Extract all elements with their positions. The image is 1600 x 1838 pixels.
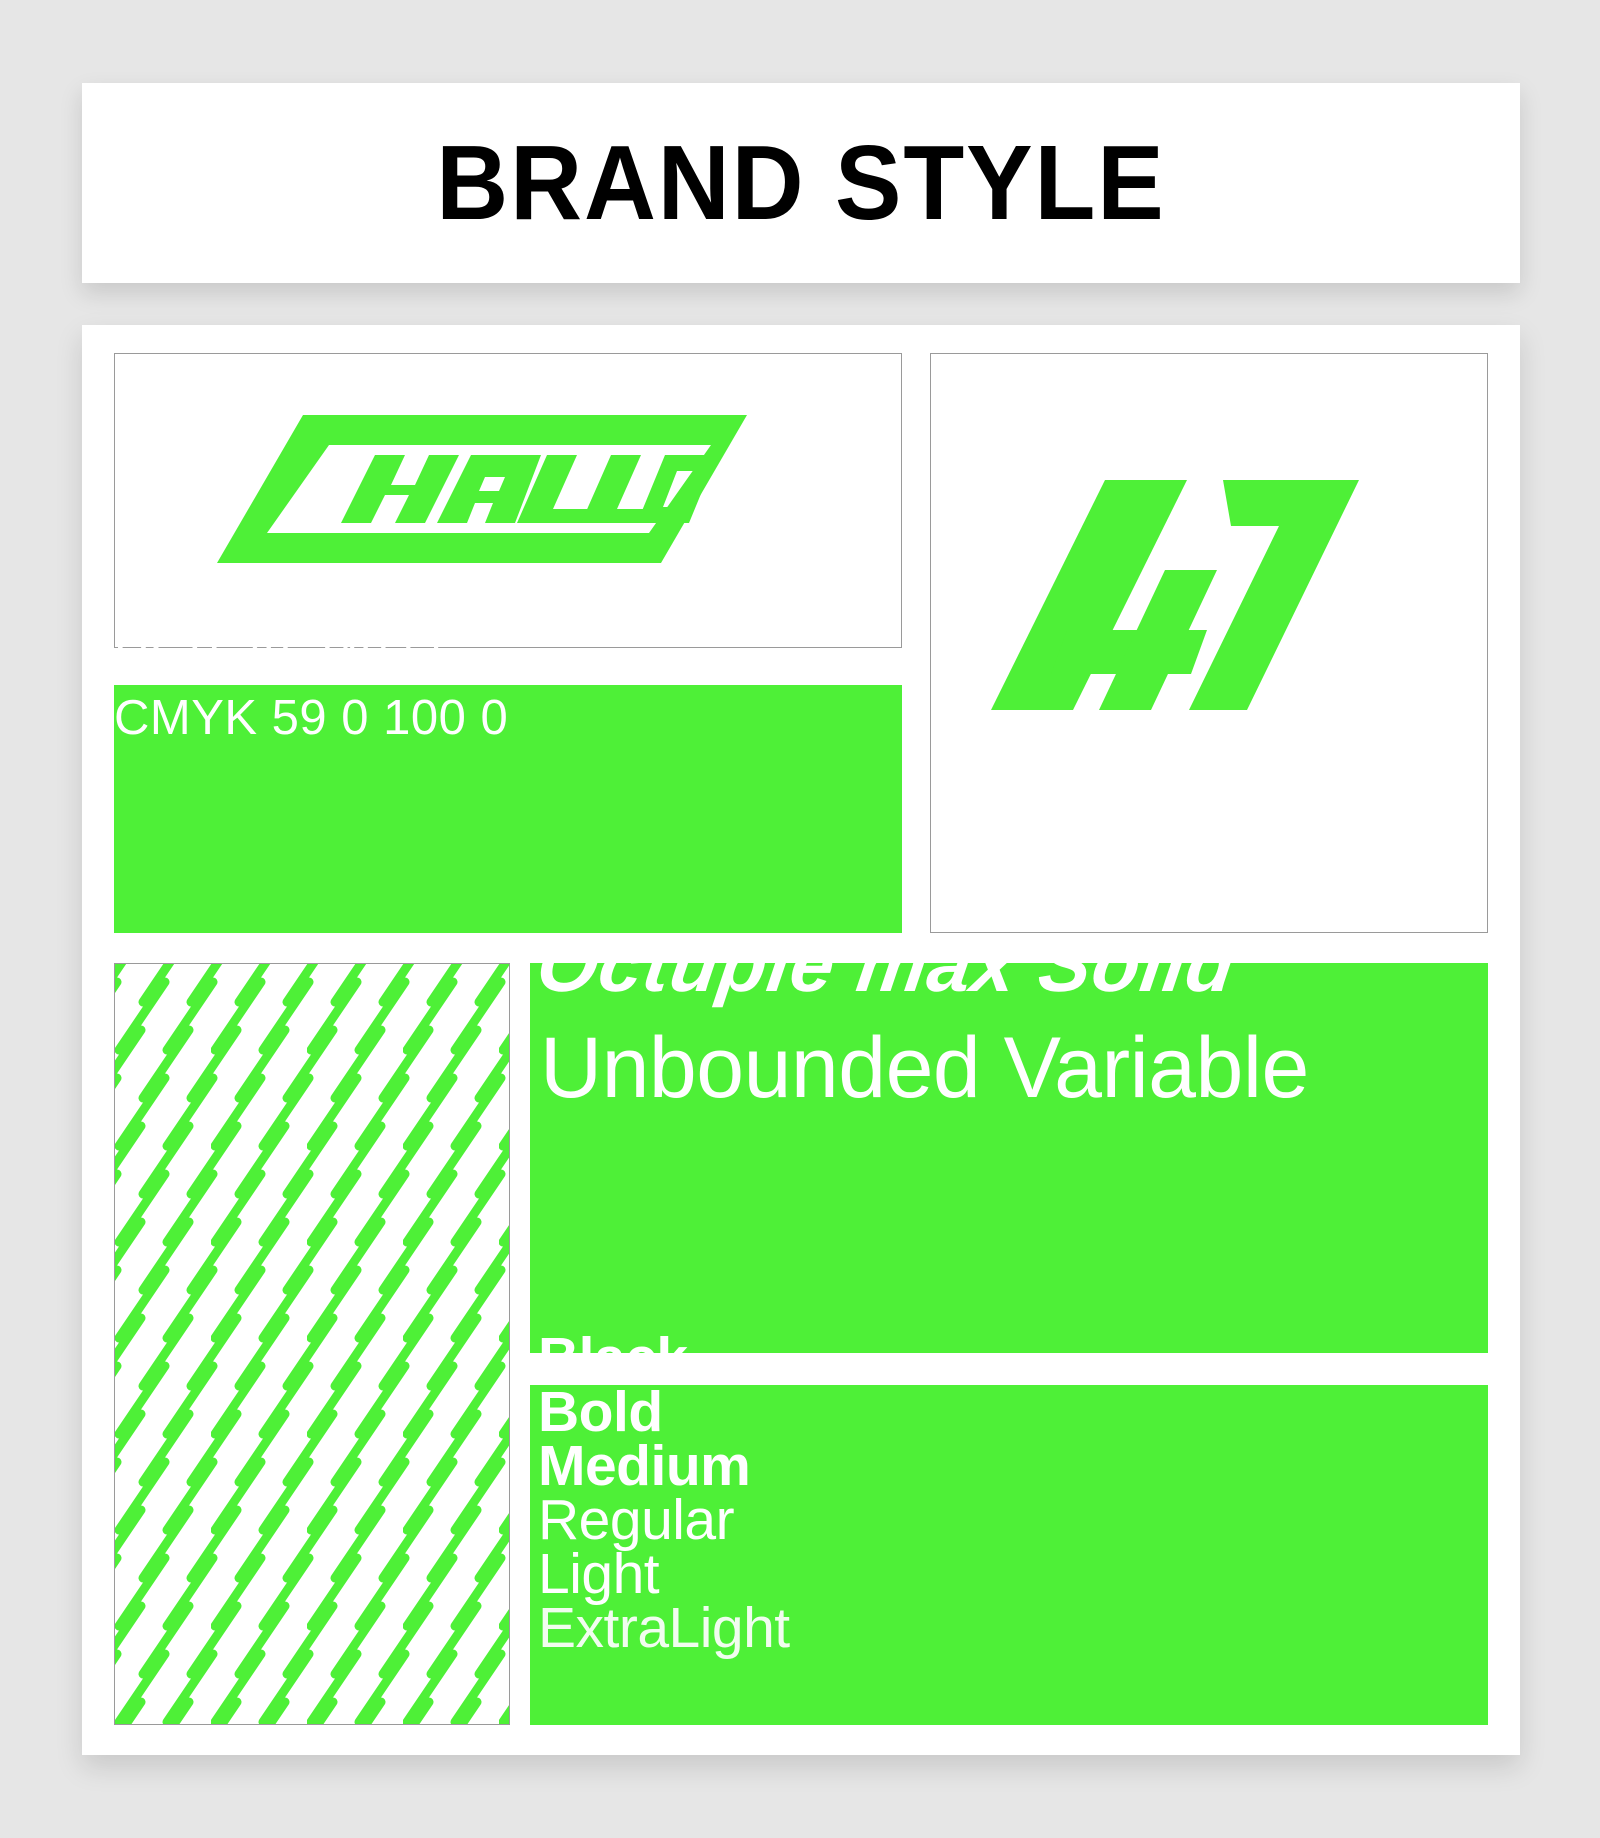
variable-typeface-sample: Unbounded Variable — [540, 1025, 1309, 1111]
typography-sample-block: Octuple max Solid Unbounded Variable — [530, 963, 1488, 1353]
diagonal-dash-pattern-icon — [115, 964, 510, 1725]
wordmark-box — [114, 353, 902, 648]
title-card: BRAND STYLE — [82, 83, 1520, 283]
display-typeface-sample: Octuple max Solid — [533, 925, 1241, 1003]
brand-assets-card: RGB 78 240 55 CMYK 59 0 100 0 — [82, 325, 1520, 1755]
page-title: BRAND STYLE — [436, 130, 1165, 236]
brand-pattern-box — [114, 963, 510, 1725]
monogram-mark-4n — [955, 474, 1367, 744]
brand-style-page: BRAND STYLE — [0, 0, 1600, 1838]
wordmark-hallo-logo — [211, 409, 751, 569]
monogram-box — [930, 353, 1488, 933]
font-weights-block — [530, 1385, 1488, 1725]
brand-color-swatch — [114, 685, 902, 933]
